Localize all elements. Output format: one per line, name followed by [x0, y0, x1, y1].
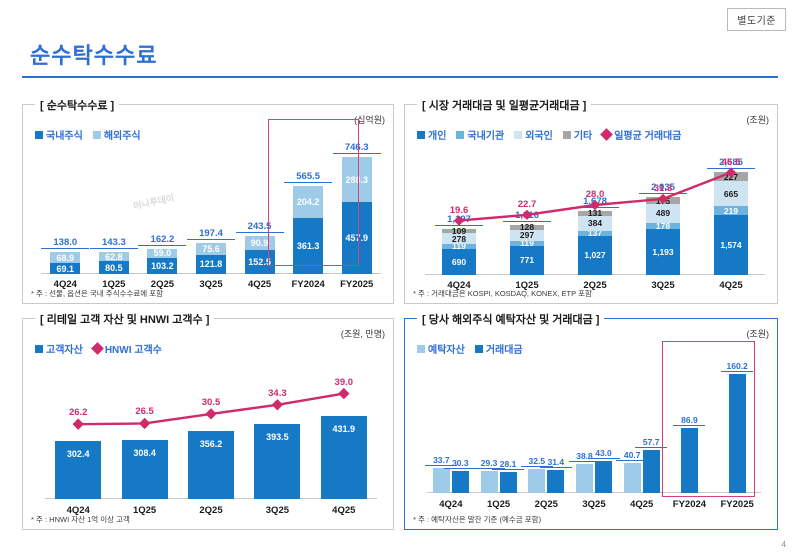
legend-item-deposit-assets: 예탁자산: [417, 341, 465, 356]
legend-label: 외국인: [525, 127, 553, 142]
panel4-legend: 예탁자산 거래대금: [417, 341, 523, 356]
bar-segment-overseas: 59.0: [147, 249, 177, 258]
x-axis-label: 4Q25: [706, 280, 756, 291]
bar-value-label: 103.2: [147, 261, 177, 271]
table-row: 103.259.0: [147, 249, 177, 274]
status-badge: 별도기준: [727, 8, 786, 31]
x-axis-label: 4Q25: [617, 499, 667, 510]
legend-item-domestic-institution: 국내기관: [456, 127, 504, 142]
panel4-unit: (조원): [746, 327, 769, 340]
line-data-point: [522, 210, 532, 220]
legend-label: 일평균 거래대금: [614, 127, 681, 142]
panel4-plot: 33.730.34Q2429.328.11Q2532.531.42Q2538.8…: [427, 363, 761, 493]
bar-total-label: 162.2: [138, 234, 186, 246]
x-axis-label: 4Q25: [235, 279, 285, 290]
bar-value-label: 28.1: [492, 459, 524, 470]
line-value-label: 30.5: [191, 397, 231, 408]
panel2-unit: (조원): [746, 113, 769, 126]
bar-value-label: 69.1: [50, 264, 80, 274]
bar-deposit-assets: [576, 464, 593, 493]
line-data-point: [73, 419, 84, 430]
legend-swatch-icon: [417, 345, 425, 353]
panel3-legend: 고객자산 HNWI 고객수: [35, 341, 162, 356]
legend-label: 해외주식: [104, 127, 141, 142]
panel4-footnote: * 주 : 예탁자산은 말잔 기준 (예수금 포함): [413, 514, 541, 525]
legend-item-hnwi-count: HNWI 고객수: [93, 341, 162, 356]
legend-item-individual: 개인: [417, 127, 446, 142]
x-axis-label: 3Q25: [638, 280, 688, 291]
table-row: 80.562.8: [99, 252, 129, 274]
bar-turnover: [547, 470, 564, 493]
legend-label: 국내기관: [467, 127, 504, 142]
page-title: 순수탁수수료: [30, 38, 157, 70]
bar-value-label: 68.9: [50, 253, 80, 263]
bar-turnover: [643, 450, 660, 493]
slide-page: 별도기준 순수탁수수료 4 [ 순수탁수수료 ] (십억원) 국내주식 해외주식…: [0, 0, 800, 555]
bar-turnover: [595, 461, 612, 493]
bar-turnover: [452, 471, 469, 494]
panel3-footnote: * 주 : HNWI 자산 1억 이상 고객: [31, 514, 130, 525]
bar-total-label: 143.3: [90, 237, 138, 249]
legend-swatch-icon: [456, 131, 464, 139]
x-axis-label: 3Q25: [569, 499, 619, 510]
bar-deposit-assets: [624, 463, 641, 493]
bar-value-label: 59.0: [147, 248, 177, 258]
legend-label: 고객자산: [46, 341, 83, 356]
bar-deposit-assets: [481, 471, 498, 493]
legend-item-client-assets: 고객자산: [35, 341, 83, 356]
panel1-title: [ 순수탁수수료 ]: [35, 97, 119, 113]
bar-value-label: 30.3: [444, 458, 476, 469]
line-data-point: [590, 200, 600, 210]
legend-item-foreigner: 외국인: [514, 127, 553, 142]
panel-overseas-stock-assets: [ 당사 해외주식 예탁자산 및 거래대금 ] (조원) 예탁자산 거래대금 3…: [404, 318, 778, 530]
line-data-point: [139, 418, 150, 429]
panel1-footnote: * 주 : 선물, 옵션은 국내 주식수수료에 포함: [31, 288, 163, 299]
legend-item-other: 기타: [563, 127, 592, 142]
panel2-title: [ 시장 거래대금 및 일평균거래대금 ]: [417, 97, 591, 113]
panel-market-turnover: [ 시장 거래대금 및 일평균거래대금 ] (조원) 개인 국내기관 외국인 기…: [404, 104, 778, 304]
legend-swatch-icon: [475, 345, 483, 353]
line-value-label: 28.0: [575, 189, 615, 200]
legend-item-daily-avg-turnover: 일평균 거래대금: [602, 127, 681, 142]
legend-label: 국내주식: [46, 127, 83, 142]
line-data-point: [658, 194, 668, 204]
bar-segment-overseas: 68.9: [50, 252, 80, 263]
panel2-plot: 6901192781091,1974Q247711192971281,3161Q…: [425, 145, 765, 275]
legend-swatch-icon: [35, 345, 43, 353]
bar-segment-domestic: 121.8: [196, 255, 226, 274]
bar-segment-domestic: 103.2: [147, 258, 177, 274]
x-axis-label: 2Q25: [186, 505, 236, 516]
panel3-unit: (조원, 만명): [341, 327, 385, 340]
panel1-legend: 국내주식 해외주식: [35, 127, 141, 142]
x-axis-label: FY2025: [332, 279, 382, 290]
x-axis-label: 4Q24: [426, 499, 476, 510]
legend-diamond-icon: [91, 342, 104, 355]
legend-label: HNWI 고객수: [105, 341, 162, 356]
legend-label: 개인: [428, 127, 446, 142]
line-value-label: 45.5: [711, 157, 751, 168]
panel2-legend: 개인 국내기관 외국인 기타 일평균 거래대금: [417, 127, 681, 142]
bar-value-label: 75.6: [196, 244, 226, 254]
panel-net-brokerage-fee: [ 순수탁수수료 ] (십억원) 국내주식 해외주식 머니투데이 69.168.…: [22, 104, 394, 304]
bar-segment-domestic: 80.5: [99, 261, 129, 274]
line-data-point: [726, 167, 736, 177]
legend-swatch-icon: [35, 131, 43, 139]
line-value-label: 34.3: [257, 388, 297, 399]
bar-value-label: 121.8: [196, 259, 226, 269]
bar-segment-overseas: 62.8: [99, 252, 129, 262]
legend-diamond-icon: [600, 128, 613, 141]
bar-total-label: 197.4: [187, 228, 235, 240]
table-row: 121.875.6: [196, 243, 226, 274]
line-value-label: 19.6: [439, 205, 479, 216]
page-number: 4: [782, 540, 786, 549]
line-data-point: [454, 216, 464, 226]
line-data-point: [205, 408, 216, 419]
legend-label: 거래대금: [486, 341, 523, 356]
line-data-point: [272, 399, 283, 410]
panel2-footnote: * 주 : 거래대금은 KOSPI, KOSDAQ, KONEX, ETP 포함: [413, 288, 592, 299]
bar-value-label: 43.0: [588, 448, 620, 459]
x-axis-label: 3Q25: [252, 505, 302, 516]
line-data-point: [338, 388, 349, 399]
x-axis-label: 4Q25: [319, 505, 369, 516]
legend-item-turnover: 거래대금: [475, 341, 523, 356]
bar-value-label: 80.5: [99, 263, 129, 273]
bar-value-label: 31.4: [540, 457, 572, 468]
highlight-box: [268, 119, 359, 266]
bar-segment-overseas: 75.6: [196, 243, 226, 255]
line-value-label: 31.3: [643, 183, 683, 194]
panel3-title: [ 리테일 고객 자산 및 HNWI 고객수 ]: [35, 311, 214, 327]
title-divider: [22, 76, 778, 78]
bar-turnover: [500, 472, 517, 493]
legend-swatch-icon: [514, 131, 522, 139]
x-axis-label: FY2024: [664, 499, 714, 510]
x-axis-label: 3Q25: [186, 279, 236, 290]
table-row: 69.168.9: [50, 252, 80, 274]
highlight-box: [662, 341, 755, 497]
bar-total-label: 138.0: [41, 237, 89, 249]
bar-value-label: 62.8: [99, 252, 129, 262]
line-value-label: 22.7: [507, 199, 547, 210]
x-axis-label: 1Q25: [474, 499, 524, 510]
legend-swatch-icon: [563, 131, 571, 139]
x-axis-label: FY2025: [712, 499, 762, 510]
legend-label: 기타: [574, 127, 592, 142]
bar-segment-domestic: 69.1: [50, 263, 80, 274]
legend-label: 예탁자산: [428, 341, 465, 356]
panel3-plot: 302.44Q24308.41Q25356.22Q25393.53Q25431.…: [45, 361, 377, 499]
line-value-label: 39.0: [324, 377, 364, 388]
legend-swatch-icon: [417, 131, 425, 139]
bar-deposit-assets: [433, 468, 450, 493]
line-value-label: 26.5: [125, 406, 165, 417]
line-value-label: 26.2: [58, 407, 98, 418]
legend-item-domestic-stock: 국내주식: [35, 127, 83, 142]
x-axis-label: 2Q25: [521, 499, 571, 510]
panel1-plot: 69.168.9138.04Q2480.562.8143.31Q25103.25…: [41, 149, 381, 274]
panel-retail-assets-hnwi: [ 리테일 고객 자산 및 HNWI 고객수 ] (조원, 만명) 고객자산 H…: [22, 318, 394, 530]
legend-swatch-icon: [93, 131, 101, 139]
panel4-title: [ 당사 해외주식 예탁자산 및 거래대금 ]: [417, 311, 604, 327]
x-axis-label: FY2024: [283, 279, 333, 290]
legend-item-overseas-stock: 해외주식: [93, 127, 141, 142]
bar-deposit-assets: [528, 469, 545, 493]
